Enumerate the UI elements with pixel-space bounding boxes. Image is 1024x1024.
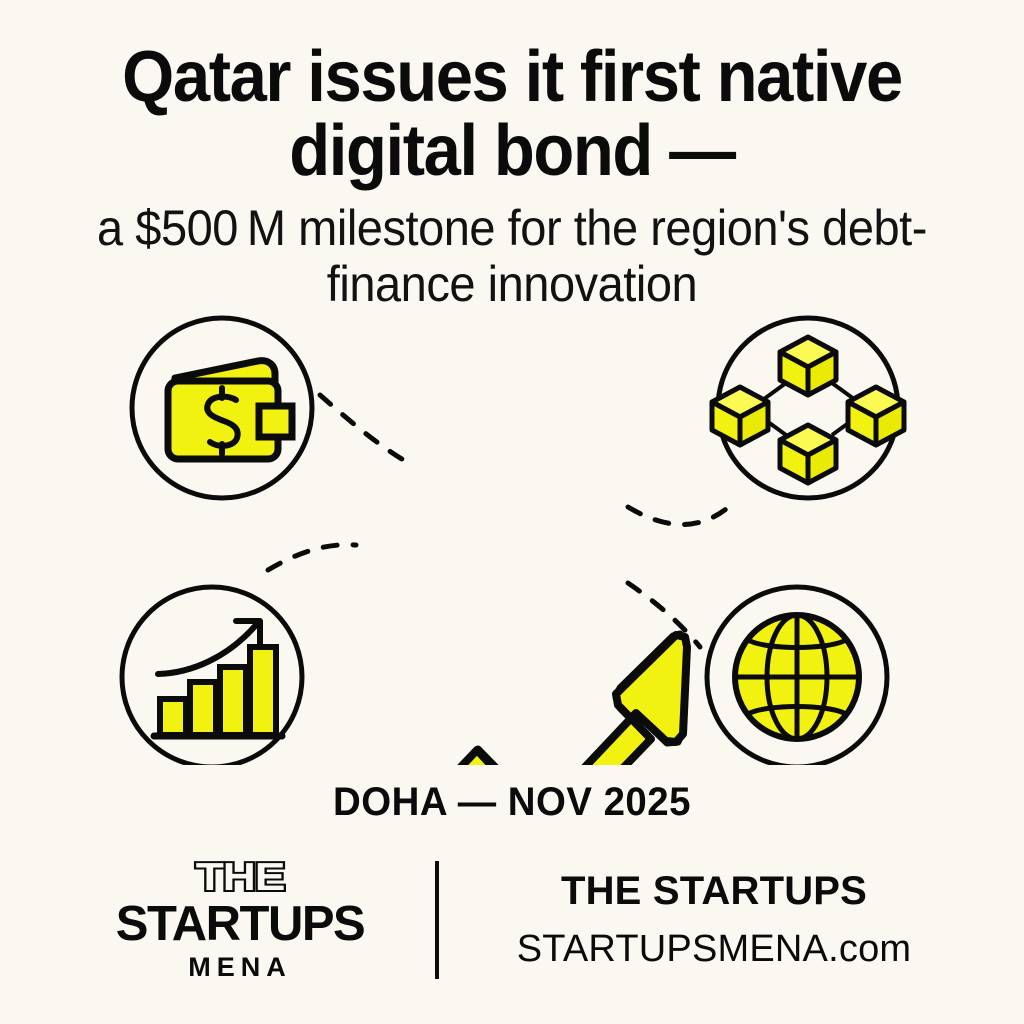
connector-center-to-globe [628, 583, 700, 647]
connector-wallet-to-center [320, 395, 412, 465]
connector-center-to-blockchain [628, 507, 726, 525]
blockchain-cubes-icon [712, 318, 904, 498]
headline-line-1: Qatar issues it first native [92, 40, 933, 114]
logo-mena-text: MENA [75, 952, 405, 982]
poster-canvas: Qatar issues it first native digital bon… [0, 0, 1024, 1024]
brand-name-text: THE STARTUPS [479, 865, 949, 917]
brand-url-text[interactable]: STARTUPSMENA.com [479, 923, 949, 975]
page-title: Qatar issues it first native digital bon… [92, 40, 933, 188]
cube-bottom [780, 425, 836, 483]
connector-chart-to-center [268, 545, 356, 570]
globe-icon [707, 587, 887, 765]
brand-logo[interactable]: THE STARTUPS MENA [75, 859, 435, 982]
headline-line-2: digital bond — [92, 114, 933, 188]
subtitle-line-1: a $500 M milestone for the region's debt… [87, 200, 937, 256]
dashed-connectors [268, 395, 726, 647]
footer: THE STARTUPS MENA THE STARTUPS STARTUPSM… [0, 850, 1024, 990]
logo-startups-text: STARTUPS [75, 899, 405, 949]
growth-chart-icon [122, 587, 302, 765]
upward-trend-arrow [356, 634, 687, 765]
illustration [0, 295, 1024, 765]
cube-left [712, 387, 768, 445]
location-date: DOHA — NOV 2025 [20, 780, 1003, 825]
wallet-icon [132, 318, 312, 498]
cube-top [780, 337, 836, 395]
cube-right [848, 387, 904, 445]
brand-info: THE STARTUPS STARTUPSMENA.com [439, 865, 949, 975]
logo-the-text: THE [45, 859, 434, 897]
